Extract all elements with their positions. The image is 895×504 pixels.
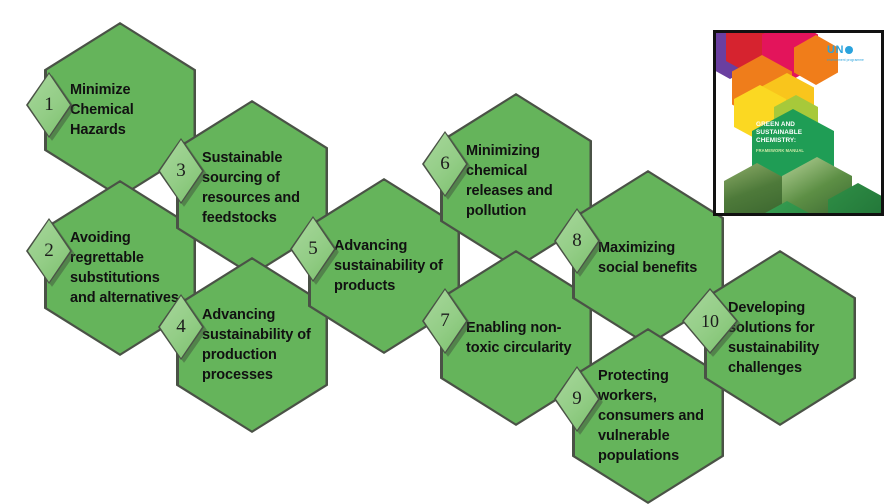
hexagon-5-number-badge: 5: [290, 216, 336, 282]
hexagon-7-number-badge: 7: [422, 288, 468, 354]
hexagon-10-number-badge: 10: [682, 288, 738, 354]
hexagon-9-number-badge: 9: [554, 366, 600, 432]
hexagon-8-number: 8: [554, 208, 600, 274]
hexagon-7-number: 7: [422, 288, 468, 354]
hexagon-10-label: Developing solutions for sustainability …: [728, 250, 848, 426]
report-cover-thumbnail[interactable]: GREEN AND SUSTAINABLE CHEMISTRY: FRAMEWO…: [713, 30, 884, 216]
hexagon-5-number: 5: [290, 216, 336, 282]
hexagon-6-number-badge: 6: [422, 131, 468, 197]
cover-title-text: GREEN AND SUSTAINABLE CHEMISTRY:: [756, 121, 802, 144]
hexagon-3-number-badge: 3: [158, 138, 204, 204]
hexagon-1-number-badge: 1: [26, 72, 72, 138]
cover-title: GREEN AND SUSTAINABLE CHEMISTRY: FRAMEWO…: [756, 121, 832, 153]
globe-icon: [845, 46, 853, 54]
unep-logo: UN environment programme: [827, 45, 873, 69]
honeycomb-diagram: Minimize Chemical Hazards 1 Avoiding reg…: [0, 0, 895, 484]
cover-subtitle: FRAMEWORK MANUAL: [756, 148, 832, 153]
unep-logo-subtitle: environment programme: [827, 58, 873, 63]
unep-logo-text: UN: [827, 44, 844, 56]
hexagon-2-number-badge: 2: [26, 218, 72, 284]
hexagon-4-number-badge: 4: [158, 294, 204, 360]
hexagon-9-number: 9: [554, 366, 600, 432]
hexagon-9-label: Protecting workers, consumers and vulner…: [598, 328, 714, 504]
hexagon-10-number: 10: [682, 288, 738, 354]
hexagon-3-number: 3: [158, 138, 204, 204]
hexagon-8-number-badge: 8: [554, 208, 600, 274]
hexagon-2-number: 2: [26, 218, 72, 284]
hexagon-6-number: 6: [422, 131, 468, 197]
hexagon-4-label: Advancing sustainability of production p…: [202, 257, 318, 433]
hexagon-4-number: 4: [158, 294, 204, 360]
hexagon-1-number: 1: [26, 72, 72, 138]
